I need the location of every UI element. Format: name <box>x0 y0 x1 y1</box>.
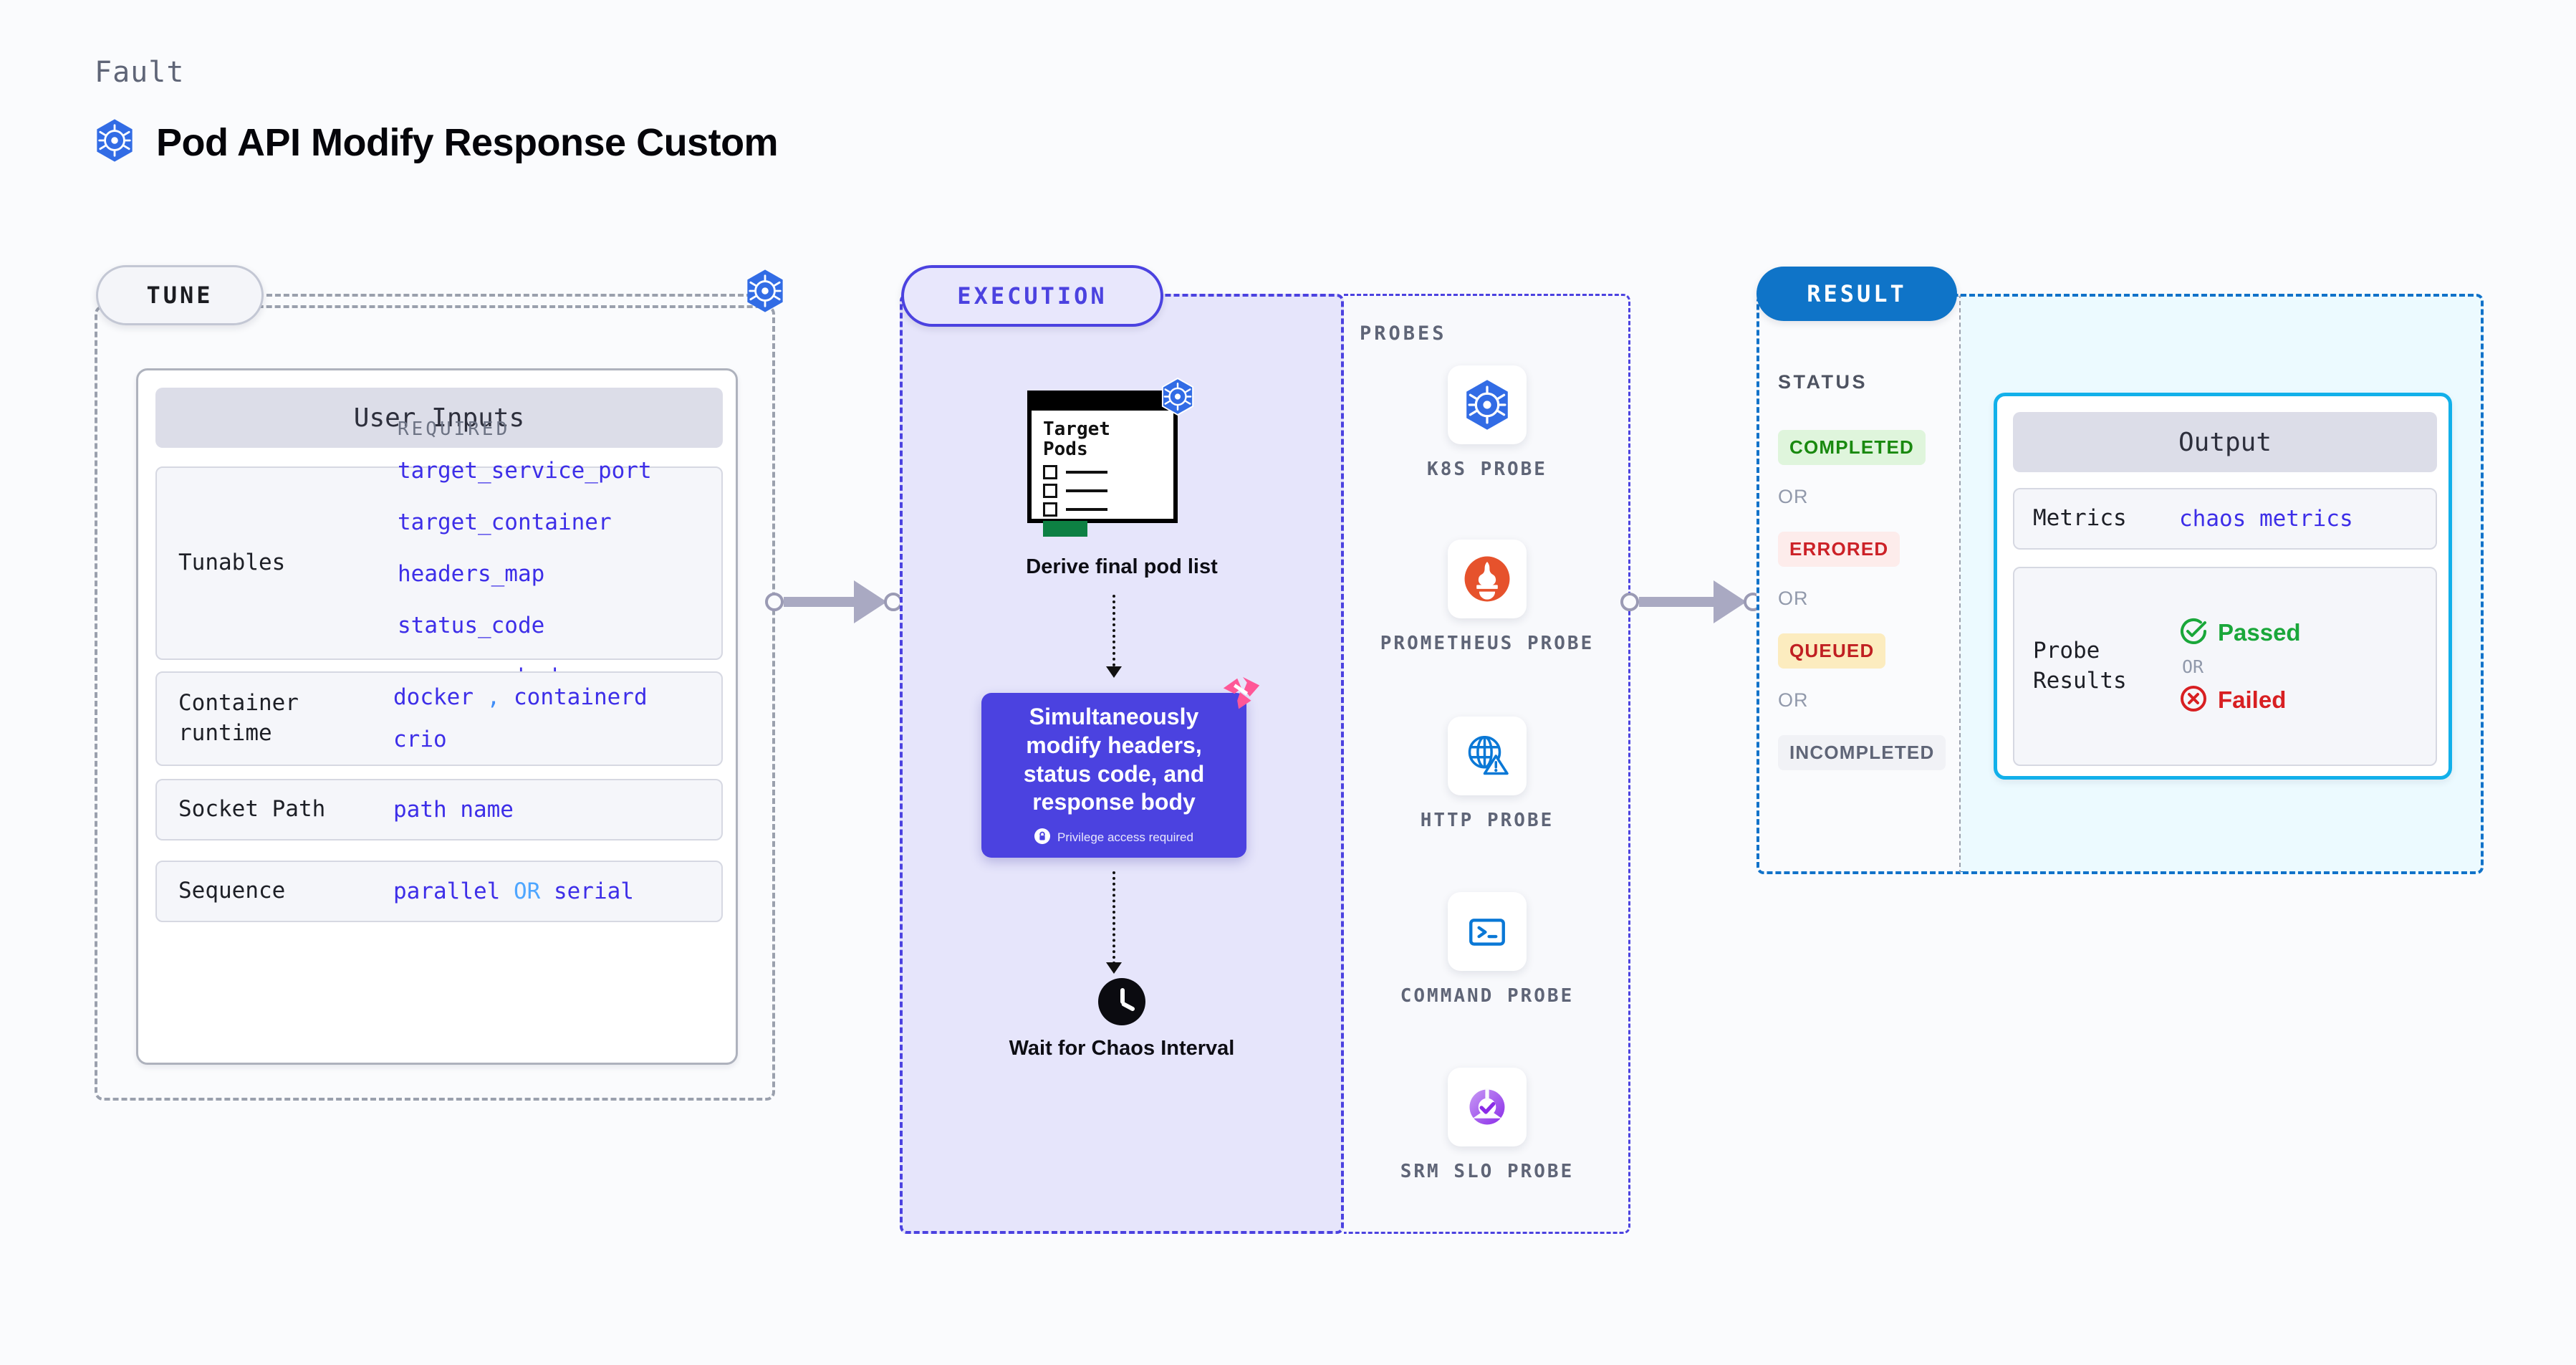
status-title: STATUS <box>1778 371 1868 393</box>
probe-results-values: Passed OR Failed <box>2179 617 2301 717</box>
probe-command[interactable]: COMMAND PROBE <box>1344 892 1630 1008</box>
output-header: Output <box>2013 412 2437 472</box>
list-line <box>1066 508 1107 511</box>
connector-dot <box>1620 593 1639 611</box>
execution-to-result-arrow <box>1620 580 1762 623</box>
metrics-value[interactable]: chaos metrics <box>2179 498 2353 540</box>
passed-label: Passed <box>2218 619 2301 646</box>
flow-connector-line <box>1112 595 1115 666</box>
tunable-item[interactable]: status_code <box>398 605 652 647</box>
arrow-head-icon <box>1106 666 1122 678</box>
tune-pill[interactable]: TUNE <box>96 265 264 325</box>
terminal-icon <box>1448 892 1527 971</box>
status-or-label: OR <box>1778 588 1809 610</box>
document-title-bar <box>1027 391 1178 411</box>
flow-connector-line <box>1112 871 1115 964</box>
runtime-separator: , <box>487 684 501 710</box>
checkbox-icon <box>1043 465 1057 479</box>
sequence-parallel[interactable]: parallel <box>393 878 500 904</box>
container-runtime-row: Container runtime docker , containerd cr… <box>155 671 723 766</box>
runtime-containerd[interactable]: containerd <box>514 684 648 710</box>
progress-bar-indicator <box>1043 521 1087 537</box>
connector-bar <box>784 597 854 607</box>
runtime-crio[interactable]: crio <box>393 727 447 752</box>
probe-results-key: Probe Results <box>2014 636 2179 696</box>
socket-path-row: Socket Path path name <box>155 779 723 840</box>
runtime-docker[interactable]: docker <box>393 684 474 710</box>
sequence-key: Sequence <box>157 876 393 906</box>
status-badge-errored: ERRORED <box>1778 532 1900 567</box>
probe-result-failed: Failed <box>2179 684 2301 717</box>
chaos-action-text: Simultaneously modify headers, status co… <box>981 703 1246 817</box>
kubernetes-icon <box>1448 365 1527 444</box>
x-circle-icon <box>2179 684 2208 717</box>
sequence-or: OR <box>514 878 540 904</box>
execution-pill[interactable]: EXECUTION <box>901 265 1163 327</box>
required-label: REQUIRED <box>398 418 652 440</box>
probe-label: COMMAND PROBE <box>1400 984 1575 1008</box>
status-badge-queued: QUEUED <box>1778 633 1885 669</box>
list-line <box>1066 471 1107 474</box>
pod-list-item <box>1043 502 1107 517</box>
sequence-values: parallel OR serial <box>393 871 634 913</box>
tune-dashed-connector <box>258 294 752 297</box>
probe-label: HTTP PROBE <box>1421 808 1554 833</box>
result-pill[interactable]: RESULT <box>1756 267 1957 321</box>
harness-logo-icon <box>1219 673 1264 721</box>
page-title: Pod API Modify Response Custom <box>156 120 778 165</box>
user-inputs-card: User Inputs Tunables REQUIRED target_ser… <box>136 368 738 1065</box>
privilege-notice: Privilege access required <box>1034 828 1193 848</box>
http-globe-warning-icon <box>1448 717 1527 795</box>
clock-icon <box>1098 978 1145 1025</box>
chaos-action-card[interactable]: Simultaneously modify headers, status co… <box>981 693 1246 858</box>
tunables-key: Tunables <box>157 548 393 578</box>
probe-label: PROMETHEUS PROBE <box>1380 631 1594 656</box>
list-line <box>1066 489 1107 492</box>
probe-result-passed: Passed <box>2179 617 2301 649</box>
container-runtime-values: docker , containerd crio <box>393 676 648 761</box>
kubernetes-icon <box>1160 378 1195 419</box>
probe-srm-slo[interactable]: SRM SLO PROBE <box>1344 1068 1630 1184</box>
failed-label: Failed <box>2218 686 2286 714</box>
probe-label: SRM SLO PROBE <box>1400 1159 1575 1184</box>
metrics-row: Metrics chaos metrics <box>2013 488 2437 550</box>
page-kicker: Fault <box>95 56 184 89</box>
probes-title: PROBES <box>1360 322 1447 345</box>
status-badge-incompleted: INCOMPLETED <box>1778 735 1946 770</box>
output-card: Output Metrics chaos metrics Probe Resul… <box>1994 393 2452 780</box>
status-or-label: OR <box>1778 689 1809 712</box>
status-or-label: OR <box>1778 486 1809 508</box>
kubernetes-icon <box>95 118 135 166</box>
tune-to-execution-arrow <box>765 580 903 623</box>
container-runtime-key: Container runtime <box>157 689 393 749</box>
status-badge-completed: COMPLETED <box>1778 430 1926 465</box>
probe-k8s[interactable]: K8S PROBE <box>1344 365 1630 482</box>
derive-final-pod-list-label: Derive final pod list <box>900 555 1344 579</box>
page-title-row: Pod API Modify Response Custom <box>95 118 778 166</box>
arrow-head-icon <box>1714 580 1746 623</box>
socket-path-value[interactable]: path name <box>393 789 514 831</box>
checkbox-icon <box>1043 502 1057 517</box>
checkbox-icon <box>1043 484 1057 498</box>
probe-http[interactable]: HTTP PROBE <box>1344 717 1630 833</box>
pod-list-item <box>1043 465 1107 479</box>
connector-bar <box>1639 597 1714 607</box>
privilege-label: Privilege access required <box>1057 830 1193 845</box>
tunable-item[interactable]: target_service_port <box>398 450 652 492</box>
probe-results-row: Probe Results Passed OR Failed <box>2013 567 2437 766</box>
tunable-item[interactable]: headers_map <box>398 553 652 595</box>
sequence-row: Sequence parallel OR serial <box>155 861 723 922</box>
probe-results-or: OR <box>2182 656 2301 677</box>
tunables-row: Tunables REQUIRED target_service_port ta… <box>155 466 723 660</box>
lock-icon <box>1034 828 1050 848</box>
socket-path-key: Socket Path <box>157 795 393 825</box>
tunables-list: REQUIRED target_service_port target_cont… <box>393 418 652 707</box>
metrics-key: Metrics <box>2014 504 2179 534</box>
tunable-item[interactable]: target_container <box>398 502 652 544</box>
target-pods-document: TargetPods <box>1027 391 1178 523</box>
prometheus-icon <box>1448 540 1527 618</box>
kubernetes-icon <box>745 269 785 317</box>
wait-for-chaos-interval-label: Wait for Chaos Interval <box>900 1035 1344 1063</box>
target-pods-title: TargetPods <box>1043 419 1110 459</box>
check-circle-icon <box>2179 617 2208 649</box>
arrow-head-icon <box>1106 962 1122 974</box>
probe-label: K8S PROBE <box>1427 457 1547 482</box>
sequence-serial[interactable]: serial <box>554 878 634 904</box>
pod-list-item <box>1043 484 1107 498</box>
srm-slo-icon <box>1448 1068 1527 1146</box>
arrow-head-icon <box>854 580 887 623</box>
probe-prometheus[interactable]: PROMETHEUS PROBE <box>1344 540 1630 656</box>
connector-dot <box>765 593 784 611</box>
